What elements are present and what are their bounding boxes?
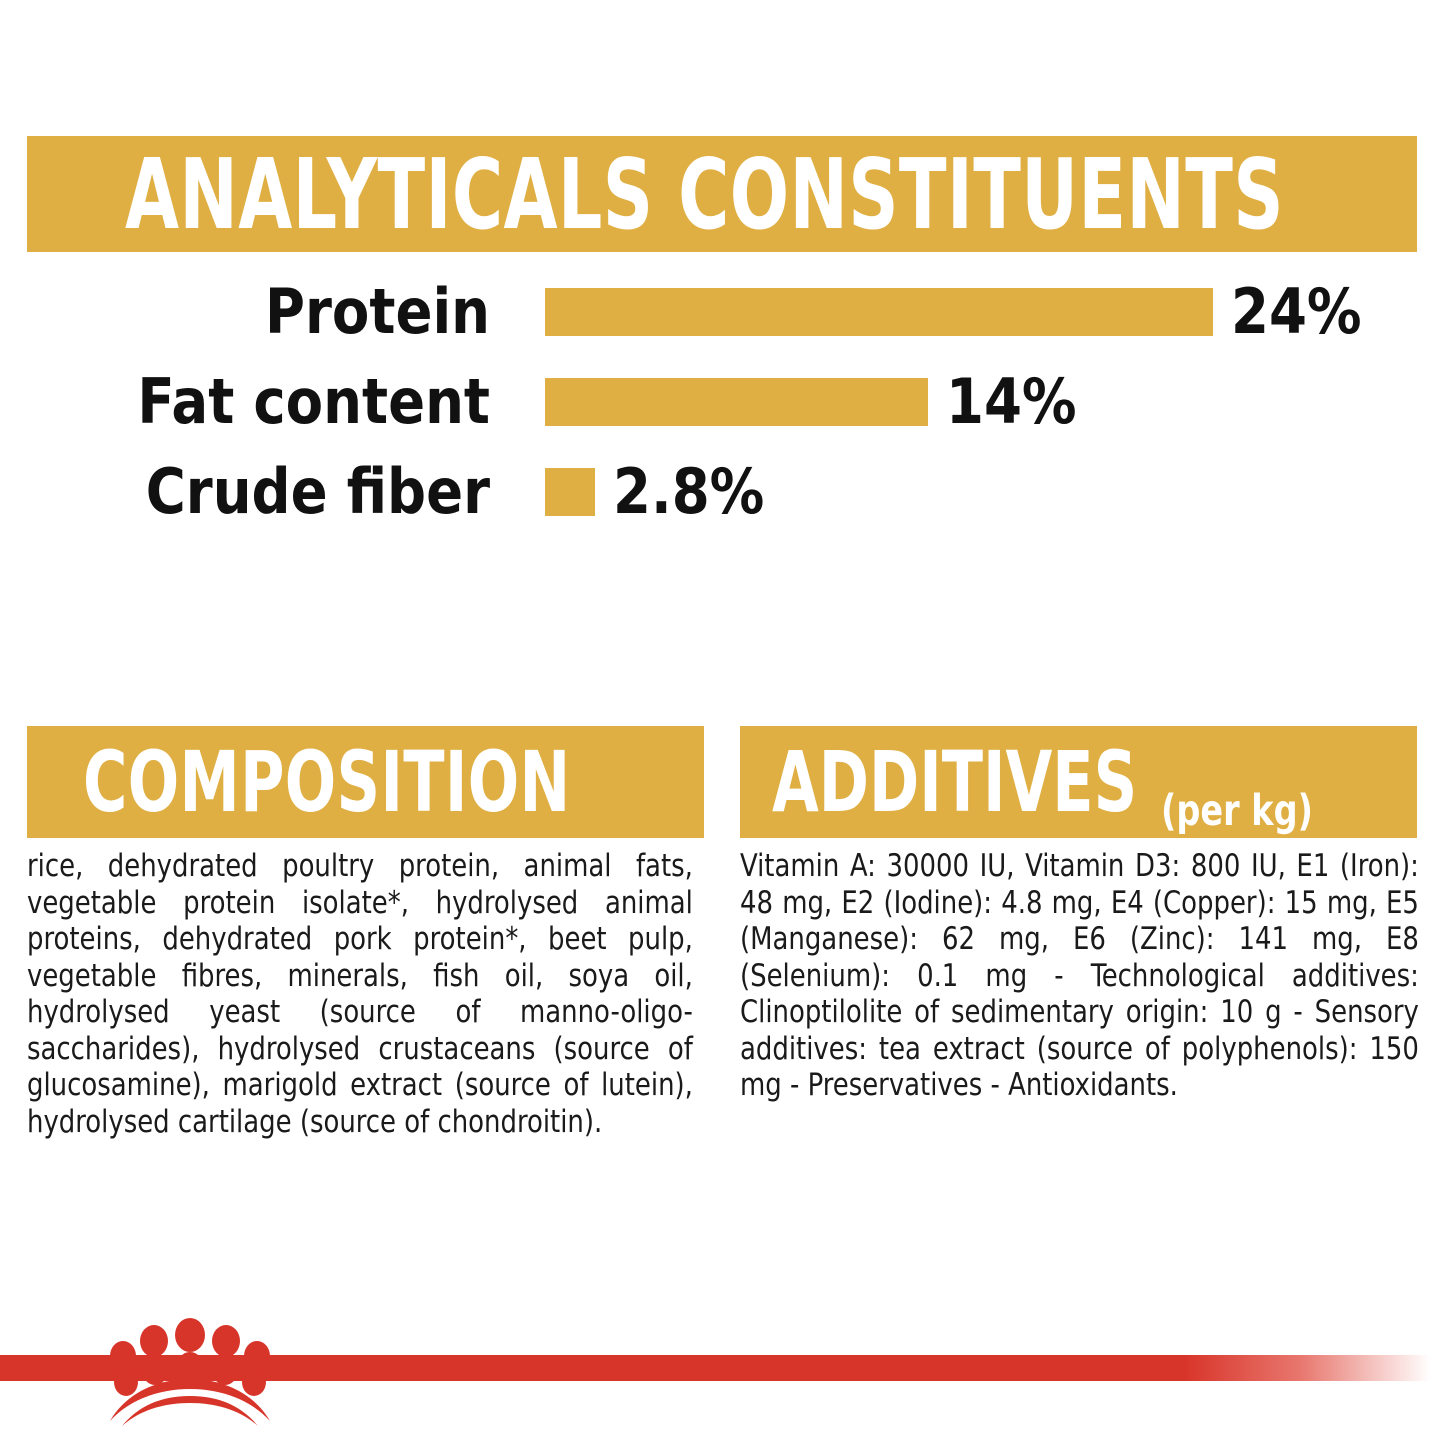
composition-banner: COMPOSITION — [27, 726, 704, 838]
royal-canin-crown-logo — [100, 1318, 280, 1428]
chart-value-fat-content: 14% — [946, 371, 1077, 433]
chart-row-fat-content: Fat content 14% — [0, 378, 1445, 426]
composition-text: rice, dehydrated poultry protein, animal… — [27, 848, 693, 1140]
additives-text: Vitamin A: 30000 IU, Vitamin D3: 800 IU,… — [740, 848, 1419, 1104]
crown-icon — [100, 1318, 280, 1428]
chart-label-fat-content: Fat content — [59, 371, 490, 433]
chart-bar-wrap-crude-fiber: 2.8% — [545, 461, 785, 523]
additives-title-row: ADDITIVES (per kg) — [772, 740, 1356, 824]
chart-bar-fat-content — [545, 378, 928, 426]
chart-row-crude-fiber: Crude fiber 2.8% — [0, 468, 1445, 516]
chart-label-protein: Protein — [59, 281, 490, 343]
chart-row-protein: Protein 24% — [0, 288, 1445, 336]
chart-bar-crude-fiber — [545, 468, 595, 516]
chart-label-crude-fiber: Crude fiber — [59, 461, 490, 523]
additives-subtitle: (per kg) — [1161, 790, 1313, 833]
analyticals-constituents-title: ANALYTICALS CONSTITUENTS — [125, 146, 1284, 243]
chart-bar-wrap-protein: 24% — [545, 281, 1379, 343]
composition-title: COMPOSITION — [83, 740, 571, 824]
nutrition-panel: ANALYTICALS CONSTITUENTS Protein 24% Fat… — [0, 0, 1445, 1445]
chart-bar-wrap-fat-content: 14% — [545, 371, 1094, 433]
analyticals-constituents-banner: ANALYTICALS CONSTITUENTS — [27, 136, 1417, 252]
constituents-bar-chart: Protein 24% Fat content 14% Crude fiber … — [0, 288, 1445, 568]
chart-bar-protein — [545, 288, 1213, 336]
additives-title: ADDITIVES — [772, 740, 1137, 824]
chart-value-crude-fiber: 2.8% — [613, 461, 764, 523]
additives-banner: ADDITIVES (per kg) — [740, 726, 1417, 838]
chart-value-protein: 24% — [1231, 281, 1362, 343]
